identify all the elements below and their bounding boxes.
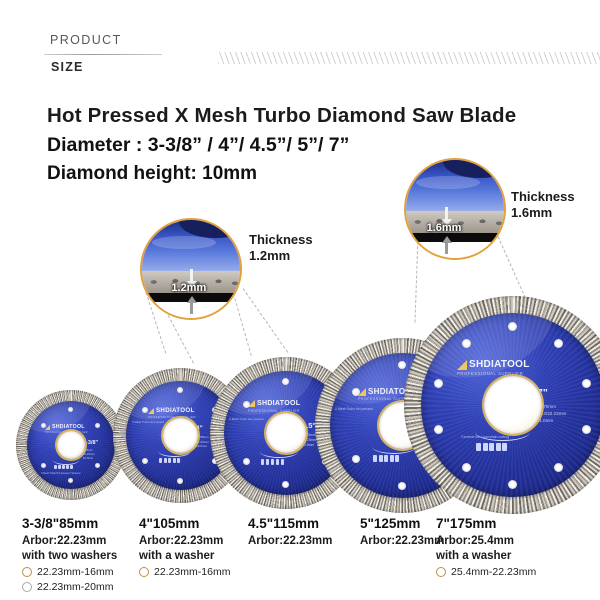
spec-washer: with two washers	[22, 549, 117, 564]
callout-arrow-up-icon	[442, 236, 452, 243]
spec-arbor: Arbor:22.23mm	[360, 534, 444, 549]
option-row[interactable]: 25.4mm-22.23mm	[436, 566, 536, 578]
callout-thickness-1-6mm: 1.6mm	[404, 158, 506, 260]
blade-face-note: X Mesh Turbo Hot pressed	[132, 421, 164, 424]
cooling-hole	[352, 455, 360, 463]
radio-icon[interactable]	[139, 567, 149, 577]
spec-title: 5"125mm	[360, 516, 444, 531]
blade-arbor	[266, 413, 306, 453]
cooling-hole	[95, 463, 100, 468]
brand-logo-icon	[45, 425, 50, 430]
cooling-hole	[462, 463, 471, 472]
callout-arrow-stem-up	[190, 302, 193, 314]
brand-logo-group: SHDIATOOL	[148, 407, 195, 414]
spec-arbor: Arbor:22.23mm	[248, 534, 332, 549]
blade-size-face: 3-3/8"	[83, 440, 98, 446]
cooling-hole	[177, 387, 183, 393]
spec-title: 4"105mm	[139, 516, 230, 531]
cooling-hole	[95, 423, 100, 428]
spec-arbor: Arbor:25.4mm	[436, 534, 536, 549]
blade-body: SHDIATOOL PROFESSIONAL SUPPLIER 7" Ø175m…	[421, 313, 600, 497]
blade-foot-ticks	[54, 465, 73, 469]
radio-icon[interactable]	[22, 582, 32, 592]
blade-face-note: Ceramic tile / porcelain cutting	[461, 435, 509, 439]
brand-tagline: PROFESSIONAL SUPPLIER	[248, 409, 300, 413]
cooling-hole	[68, 478, 73, 483]
cooling-hole	[508, 480, 517, 489]
spec-title: 7"175mm	[436, 516, 536, 531]
spec-title: 3-3/8"85mm	[22, 516, 117, 531]
cooling-hole	[243, 458, 250, 465]
cooling-hole	[142, 458, 148, 464]
header-divider	[44, 54, 162, 55]
cooling-hole	[398, 482, 406, 490]
blade-foot-ticks	[476, 443, 507, 451]
cooling-hole	[282, 481, 289, 488]
spec-block-3-3-8: 3-3/8"85mm Arbor:22.23mm with two washer…	[22, 516, 117, 593]
brand-name: SHDIATOOL	[156, 407, 195, 414]
cooling-hole	[554, 463, 563, 472]
thickness-value: 1.2mm	[249, 248, 313, 264]
leader-line-thin-d	[243, 288, 289, 352]
thickness-label-1-6mm: Thickness 1.6mm	[511, 189, 575, 221]
page-title: Hot Pressed X Mesh Turbo Diamond Saw Bla…	[47, 104, 516, 128]
blade-face-note: X Mesh Turbo Hot pressed / Sintered	[41, 472, 80, 475]
spec-block-7: 7"175mm Arbor:25.4mm with a washer 25.4m…	[436, 516, 536, 578]
spec-washer: with a washer	[436, 549, 536, 564]
blade-face-specs: Ø85mm 22.23mm 10.0mm	[83, 448, 95, 461]
cooling-hole	[582, 379, 591, 388]
cooling-hole	[142, 407, 148, 413]
option-row[interactable]: 22.23mm-16mm	[139, 566, 230, 578]
spec-arbor: Arbor:22.23mm	[139, 534, 230, 549]
blade-3-3-8[interactable]: SHDIATOOL PROFESSIONAL SUPPLIER 3-3/8" Ø…	[16, 390, 126, 500]
brand-tagline: PROFESSIONAL SUPPLIER	[148, 415, 196, 419]
thickness-value: 1.6mm	[511, 205, 575, 221]
blade-arbor	[57, 431, 85, 459]
option-label: 22.23mm-16mm	[154, 566, 230, 578]
callout-inline-value: 1.2mm	[171, 282, 206, 294]
cooling-hole	[41, 423, 46, 428]
cooling-hole	[508, 322, 517, 331]
cooling-hole	[41, 463, 46, 468]
cooling-hole	[398, 361, 406, 369]
cooling-hole	[434, 379, 443, 388]
blade-arbor	[163, 418, 198, 453]
header-size-label: SIZE	[51, 60, 84, 74]
radio-icon[interactable]	[436, 567, 446, 577]
spec-washer: with a washer	[139, 549, 230, 564]
cooling-hole	[352, 388, 360, 396]
radio-icon[interactable]	[22, 567, 32, 577]
thickness-word: Thickness	[511, 189, 575, 205]
cooling-hole	[68, 407, 73, 412]
option-row[interactable]: 22.23mm-16mm	[22, 566, 117, 578]
blade-face-note: X Mesh Turbo Hot pressed	[335, 407, 373, 411]
brand-logo-group: SHDIATOOL	[45, 424, 85, 430]
option-label: 25.4mm-22.23mm	[451, 566, 536, 578]
blade-face-note: X Mesh Turbo Hot pressed	[229, 417, 263, 421]
brand-logo-icon	[248, 400, 255, 407]
cooling-hole	[582, 425, 591, 434]
option-row[interactable]: 22.23mm-20mm	[22, 581, 117, 593]
hatch-decoration	[218, 52, 600, 64]
header: PRODUCT SIZE	[0, 0, 600, 90]
thickness-label-1-2mm: Thickness 1.2mm	[249, 232, 313, 264]
spec-title: 4.5"115mm	[248, 516, 332, 531]
spec-block-4: 4"105mm Arbor:22.23mm with a washer 22.2…	[139, 516, 230, 578]
brand-name: SHDIATOOL	[469, 359, 530, 370]
blade-foot-ticks	[261, 459, 284, 465]
option-label: 22.23mm-20mm	[37, 581, 113, 593]
brand-name: SHDIATOOL	[52, 424, 85, 430]
spec-block-4-5: 4.5"115mm Arbor:22.23mm	[248, 516, 332, 549]
cooling-hole	[243, 401, 250, 408]
brand-logo-icon	[457, 360, 467, 370]
spec-arbor: Arbor:22.23mm	[22, 534, 117, 549]
header-product-label: PRODUCT	[50, 33, 122, 47]
option-label: 22.23mm-16mm	[37, 566, 113, 578]
blade-foot-ticks	[373, 455, 399, 462]
product-size-infographic: PRODUCT SIZE Hot Pressed X Mesh Turbo Di…	[0, 0, 600, 600]
diameter-line: Diameter : 3-3/8” / 4”/ 4.5”/ 5”/ 7”	[47, 134, 349, 157]
callout-base	[406, 242, 504, 258]
diamond-height-line: Diamond height: 10mm	[47, 163, 257, 185]
cooling-hole	[462, 339, 471, 348]
callout-inline-value: 1.6mm	[427, 222, 462, 234]
brand-logo-group: SHDIATOOL	[248, 400, 300, 407]
cooling-hole	[282, 378, 289, 385]
cooling-hole	[434, 425, 443, 434]
brand-logo-icon	[358, 388, 366, 396]
brand-name: SHDIATOOL	[257, 400, 300, 407]
blade-body: SHDIATOOL PROFESSIONAL SUPPLIER 3-3/8" Ø…	[27, 401, 115, 489]
brand-logo-group: SHDIATOOL	[457, 359, 530, 370]
spec-block-5: 5"125mm Arbor:22.23mm	[360, 516, 444, 549]
blade-arbor	[484, 376, 542, 434]
cooling-hole	[554, 339, 563, 348]
callout-arrow-stem-up	[445, 242, 448, 254]
callout-thickness-1-2mm: 1.2mm	[140, 218, 242, 320]
thickness-word: Thickness	[249, 232, 313, 248]
blade-foot-ticks	[159, 458, 180, 463]
brand-logo-icon	[148, 408, 154, 414]
callout-arrow-up-icon	[187, 296, 197, 303]
cooling-hole	[177, 478, 183, 484]
